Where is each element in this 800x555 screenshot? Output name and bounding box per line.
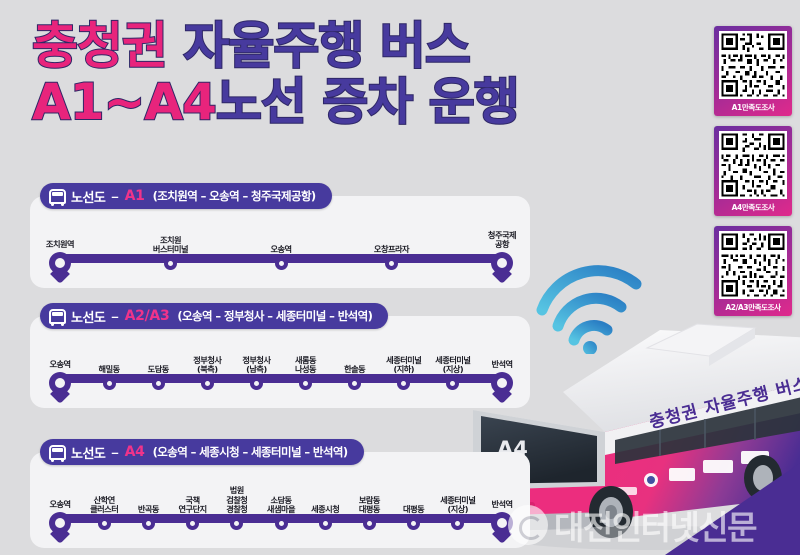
- route-terminus-pin-icon: [491, 252, 513, 278]
- route-stop-label: 반석역: [491, 360, 512, 370]
- route-badge-a1[interactable]: 노선도 – A1 (조치원역 – 오송역 – 청주국제공항): [40, 183, 332, 209]
- title-line-2: A1~A4노선 증차 운행: [32, 74, 519, 130]
- route-stop-label: 국책 연구단지: [179, 496, 207, 515]
- route-stop-dot-icon: [275, 517, 288, 530]
- wifi-signal-icon: [536, 258, 646, 354]
- route-badge-title: 노선도: [71, 307, 105, 326]
- route-stop[interactable]: 오창프라자: [360, 245, 424, 274]
- route-stop-dot-icon: [164, 257, 177, 270]
- bus-icon: [49, 189, 66, 204]
- route-stop-label: 반곡동: [138, 505, 159, 515]
- route-stop-label: 오송역: [49, 500, 70, 510]
- poster-title: 충청권 자율주행 버스 A1~A4노선 증차 운행: [32, 18, 519, 130]
- route-line-a2a3: 오송역해밀동도담동정부청사 (북측)정부청사 (남측)새롬동 나성동한솔동세종터…: [48, 332, 514, 394]
- route-stop-label: 새롬동 나성동: [295, 356, 316, 375]
- route-stop-dot-icon: [348, 377, 361, 390]
- watermark-text: 대전인터넷신문: [554, 501, 756, 549]
- route-stop[interactable]: 오송역: [249, 245, 313, 274]
- route-stop-label: 산학연 클러스터: [90, 496, 118, 515]
- route-line-a4: 오송역산학연 클러스터반곡동국책 연구단지법원 검찰청 경찰청소담동 새샘마을세…: [48, 472, 514, 534]
- bus-icon: [49, 445, 66, 460]
- route-terminus-pin-icon: [49, 252, 71, 278]
- route-badge-title: 노선도: [71, 187, 105, 206]
- route-stop-dot-icon: [299, 377, 312, 390]
- qr-label-a2a3: A2/A3만족도조사: [725, 302, 780, 313]
- route-stop-dot-icon: [98, 517, 111, 530]
- route-stop-label: 소담동 새샘마을: [267, 496, 295, 515]
- qr-code-icon: [719, 31, 787, 99]
- route-stop-label: 해밀동: [99, 365, 120, 375]
- route-line-a1: 조치원역조치원 버스터미널오송역오창프라자청주국제 공항: [48, 212, 514, 274]
- qr-card-a1[interactable]: A1만족도조사: [714, 26, 792, 116]
- route-terminus-pin-icon: [49, 372, 71, 398]
- route-badge-summary: (오송역 – 세종시청 – 세종터미널 – 반석역): [153, 444, 348, 460]
- watermark-logo-icon: [508, 505, 548, 545]
- route-stop[interactable]: 조치원역: [28, 240, 92, 274]
- route-badge-code: A2/A3: [125, 308, 170, 324]
- route-stop-label: 보람동 대평동: [359, 496, 380, 515]
- route-stop-label: 정부청사 (북측): [193, 356, 221, 375]
- route-stop-dot-icon: [103, 377, 116, 390]
- poster-canvas: 충청권 자율주행 버스 A1~A4노선 증차 운행: [0, 0, 800, 555]
- route-badge-title: 노선도: [71, 443, 105, 462]
- qr-card-a4[interactable]: A4만족도조사: [714, 126, 792, 216]
- route-stop-dot-icon: [275, 257, 288, 270]
- route-stop[interactable]: 반석역: [470, 360, 534, 394]
- route-stop-label: 오송역: [270, 245, 291, 255]
- title-line-2-rest: 노선 증차 운행: [216, 73, 519, 131]
- title-line-1-rest: 자율주행 버스: [167, 17, 470, 75]
- route-card-a1: 노선도 – A1 (조치원역 – 오송역 – 청주국제공항) 조치원역조치원 버…: [30, 196, 530, 288]
- route-card-a2a3: 노선도 – A2/A3 (오송역 – 정부청사 – 세종터미널 – 반석역) 오…: [30, 316, 530, 408]
- route-stop-dot-icon: [250, 377, 263, 390]
- qr-code-list: A1만족도조사: [714, 26, 792, 316]
- route-badge-dash: –: [111, 445, 118, 460]
- route-stop-dot-icon: [407, 517, 420, 530]
- route-stop-dot-icon: [152, 377, 165, 390]
- route-stop-dot-icon: [186, 517, 199, 530]
- route-stop-label: 대평동: [403, 505, 424, 515]
- route-stop-label: 한솔동: [344, 365, 365, 375]
- qr-code-icon: [719, 131, 787, 199]
- route-stop[interactable]: 조치원 버스터미널: [139, 236, 203, 274]
- route-stop-label: 세종터미널 (지상): [435, 356, 470, 375]
- route-badge-summary: (오송역 – 정부청사 – 세종터미널 – 반석역): [177, 308, 372, 324]
- route-stop-label: 법원 검찰청 경찰청: [226, 486, 247, 515]
- route-stop-label: 오창프라자: [374, 245, 409, 255]
- route-stop-label: 청주국제 공항: [488, 231, 516, 250]
- route-stop-label: 세종터미널 (지하): [386, 356, 421, 375]
- bus-icon: [49, 309, 66, 324]
- route-stop-list: 조치원역조치원 버스터미널오송역오창프라자청주국제 공항: [48, 212, 514, 274]
- route-card-a4: 노선도 – A4 (오송역 – 세종시청 – 세종터미널 – 반석역) 오송역산…: [30, 452, 530, 548]
- route-badge-code: A4: [125, 444, 145, 460]
- route-stop-dot-icon: [397, 377, 410, 390]
- route-stop-label: 조치원역: [46, 240, 74, 250]
- route-badge-dash: –: [111, 189, 118, 204]
- route-stop-label: 오송역: [49, 360, 70, 370]
- route-badge-dash: –: [111, 309, 118, 324]
- qr-label-a1: A1만족도조사: [732, 102, 775, 113]
- route-stop-list: 오송역산학연 클러스터반곡동국책 연구단지법원 검찰청 경찰청소담동 새샘마을세…: [48, 472, 514, 534]
- route-stop-label: 세종시청: [311, 505, 339, 515]
- route-badge-a2a3[interactable]: 노선도 – A2/A3 (오송역 – 정부청사 – 세종터미널 – 반석역): [40, 303, 388, 329]
- route-badge-summary: (조치원역 – 오송역 – 청주국제공항): [153, 188, 316, 204]
- route-stop-dot-icon: [230, 517, 243, 530]
- title-line-1-highlight: 충청권: [32, 17, 167, 75]
- qr-card-a2a3[interactable]: A2/A3만족도조사: [714, 226, 792, 316]
- route-stop-dot-icon: [363, 517, 376, 530]
- watermark: 대전인터넷신문: [508, 501, 756, 549]
- route-stop[interactable]: 청주국제 공항: [470, 231, 534, 274]
- title-line-2-highlight: A1~A4: [32, 73, 216, 131]
- route-badge-code: A1: [125, 188, 145, 204]
- route-stop-dot-icon: [446, 377, 459, 390]
- qr-code-icon: [719, 231, 787, 299]
- qr-label-a4: A4만족도조사: [732, 202, 775, 213]
- route-stop-label: 도담동: [148, 365, 169, 375]
- route-stop-list: 오송역해밀동도담동정부청사 (북측)정부청사 (남측)새롬동 나성동한솔동세종터…: [48, 332, 514, 394]
- route-stop-dot-icon: [385, 257, 398, 270]
- route-stop-label: 조치원 버스터미널: [153, 236, 188, 255]
- route-stop-dot-icon: [201, 377, 214, 390]
- route-stop-dot-icon: [319, 517, 332, 530]
- route-stop-label: 정부청사 (남측): [242, 356, 270, 375]
- title-line-1: 충청권 자율주행 버스: [32, 18, 519, 74]
- route-stop-dot-icon: [142, 517, 155, 530]
- route-terminus-pin-icon: [491, 372, 513, 398]
- route-stop-dot-icon: [451, 517, 464, 530]
- route-terminus-pin-icon: [49, 512, 71, 538]
- route-badge-a4[interactable]: 노선도 – A4 (오송역 – 세종시청 – 세종터미널 – 반석역): [40, 439, 364, 465]
